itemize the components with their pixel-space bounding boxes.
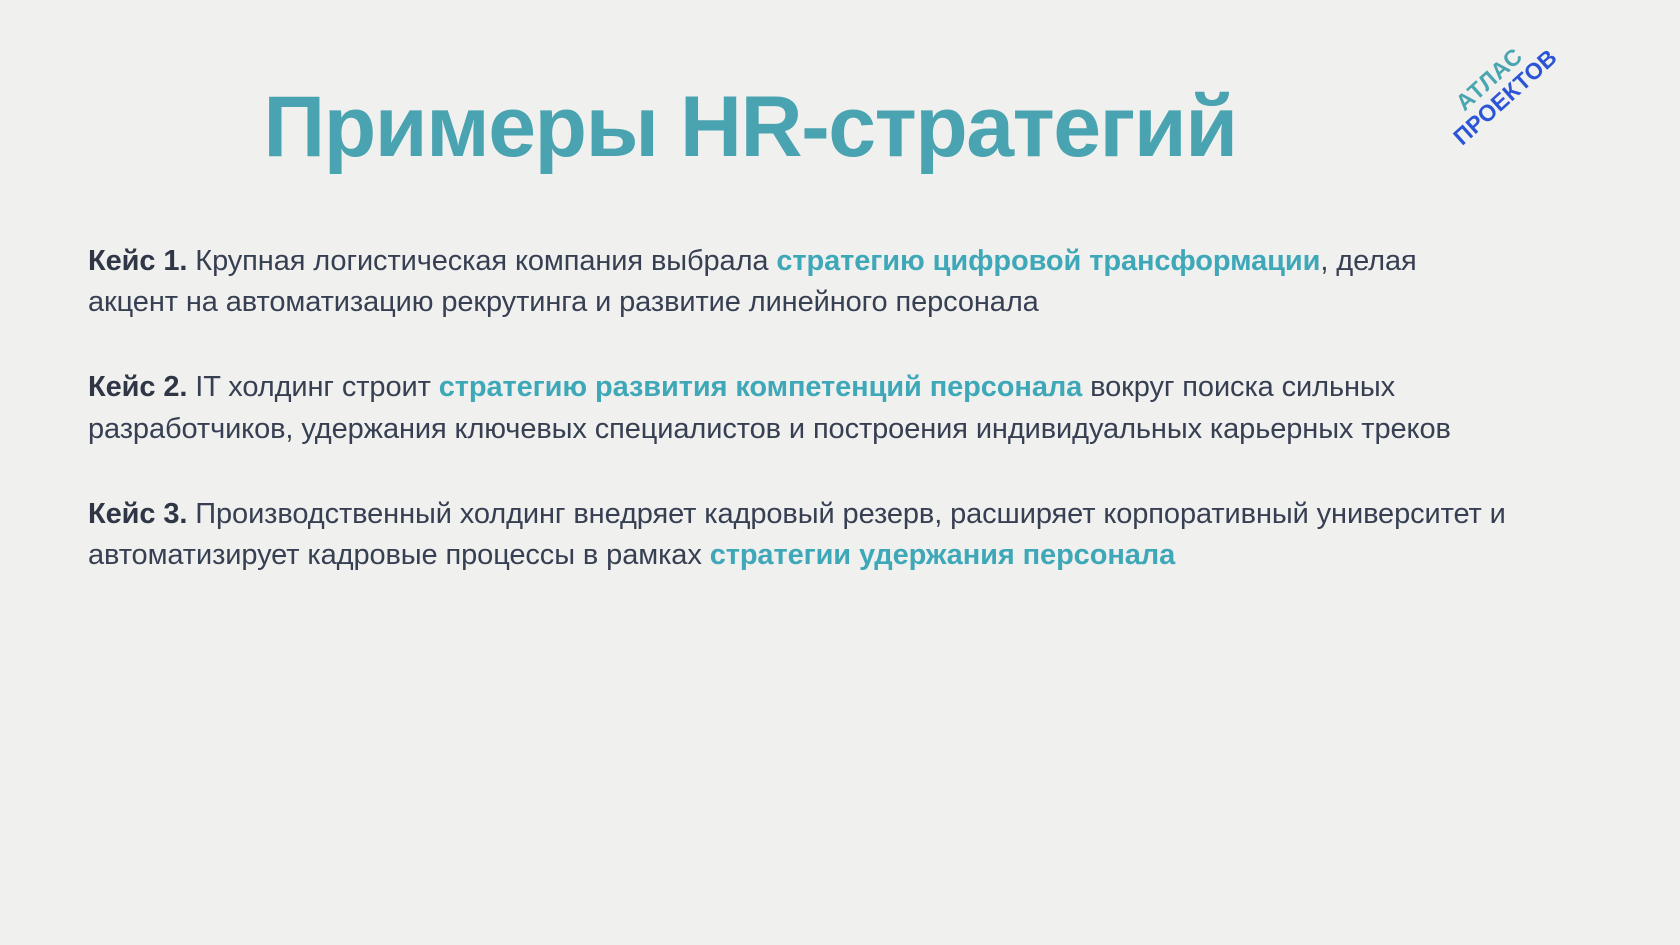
case-highlight-3: стратегии удержания персонала xyxy=(710,539,1175,571)
case-highlight-1: стратегию цифровой трансформации xyxy=(776,245,1320,277)
case-highlight-2: стратегию развития компетенций персонала xyxy=(439,371,1082,403)
case-text-1a: Крупная логистическая компания выбрала xyxy=(187,245,776,277)
slide-title: Примеры HR-стратегий xyxy=(0,78,1500,177)
case-label-1: Кейс 1. xyxy=(88,245,187,277)
case-label-3: Кейс 3. xyxy=(88,498,187,530)
case-paragraph-3: Кейс 3. Производственный холдинг внедряе… xyxy=(88,494,1508,576)
slide-body: Кейс 1. Крупная логистическая компания в… xyxy=(88,212,1508,576)
slide-root: АТЛАС ПРОЕКТОВ Примеры HR-стратегий Кейс… xyxy=(0,0,1680,945)
case-paragraph-2: Кейс 2. IT холдинг строит стратегию разв… xyxy=(88,367,1508,449)
case-label-2: Кейс 2. xyxy=(88,371,187,403)
case-text-2a: IT холдинг строит xyxy=(187,371,438,403)
case-paragraph-1: Кейс 1. Крупная логистическая компания в… xyxy=(88,241,1508,323)
